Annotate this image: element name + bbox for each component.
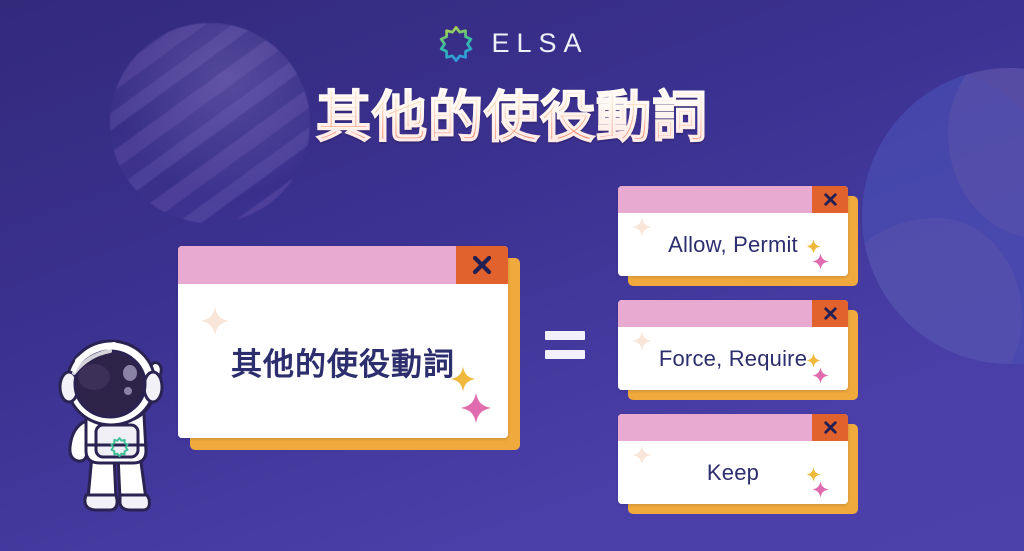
main-card-label: 其他的使役動詞 [231, 339, 455, 384]
equals-bar-bottom [545, 350, 585, 359]
card-titlebar [618, 300, 848, 327]
card-titlebar [618, 186, 848, 213]
sparkle-yellow-icon [806, 239, 821, 254]
equals-bar-top [545, 331, 585, 340]
equals-symbol [545, 331, 585, 361]
sparkle-cream-icon [632, 331, 652, 351]
elsa-flower-logo-icon [435, 22, 477, 64]
result-card: Allow, Permit [618, 186, 848, 276]
sparkle-cream-icon [200, 306, 230, 336]
card-body: Keep [618, 441, 848, 504]
card-frame: Allow, Permit [618, 186, 848, 276]
card-frame: Force, Require [618, 300, 848, 390]
sparkle-yellow-icon [806, 353, 821, 368]
sparkle-pink-icon [812, 367, 829, 384]
card-frame: 其他的使役動詞 [178, 246, 508, 438]
result-card: Force, Require [618, 300, 848, 390]
close-icon[interactable] [812, 186, 848, 213]
close-icon[interactable] [456, 246, 508, 284]
sparkle-pink-icon [460, 392, 492, 424]
card-body: Force, Require [618, 327, 848, 390]
card-body: Allow, Permit [618, 213, 848, 276]
brand-name: ELSA [491, 30, 588, 57]
card-titlebar [178, 246, 508, 284]
card-titlebar [618, 414, 848, 441]
card-body: 其他的使役動詞 [178, 284, 508, 438]
close-icon[interactable] [812, 414, 848, 441]
sparkle-pink-icon [812, 253, 829, 270]
close-icon[interactable] [812, 300, 848, 327]
sparkle-cream-icon [632, 445, 652, 465]
result-card: Keep [618, 414, 848, 504]
sparkle-yellow-icon [806, 467, 821, 482]
sparkle-pink-icon [812, 481, 829, 498]
card-frame: Keep [618, 414, 848, 504]
main-term-card: 其他的使役動詞 [178, 246, 508, 438]
sparkle-cream-icon [632, 217, 652, 237]
brand-header: ELSA [0, 22, 1024, 64]
page-title: 其他的使役動詞 [0, 88, 1024, 147]
result-card-label: Force, Require [659, 346, 807, 372]
result-card-label: Keep [707, 460, 759, 486]
astronaut-mascot [48, 333, 178, 518]
result-card-label: Allow, Permit [668, 232, 798, 258]
